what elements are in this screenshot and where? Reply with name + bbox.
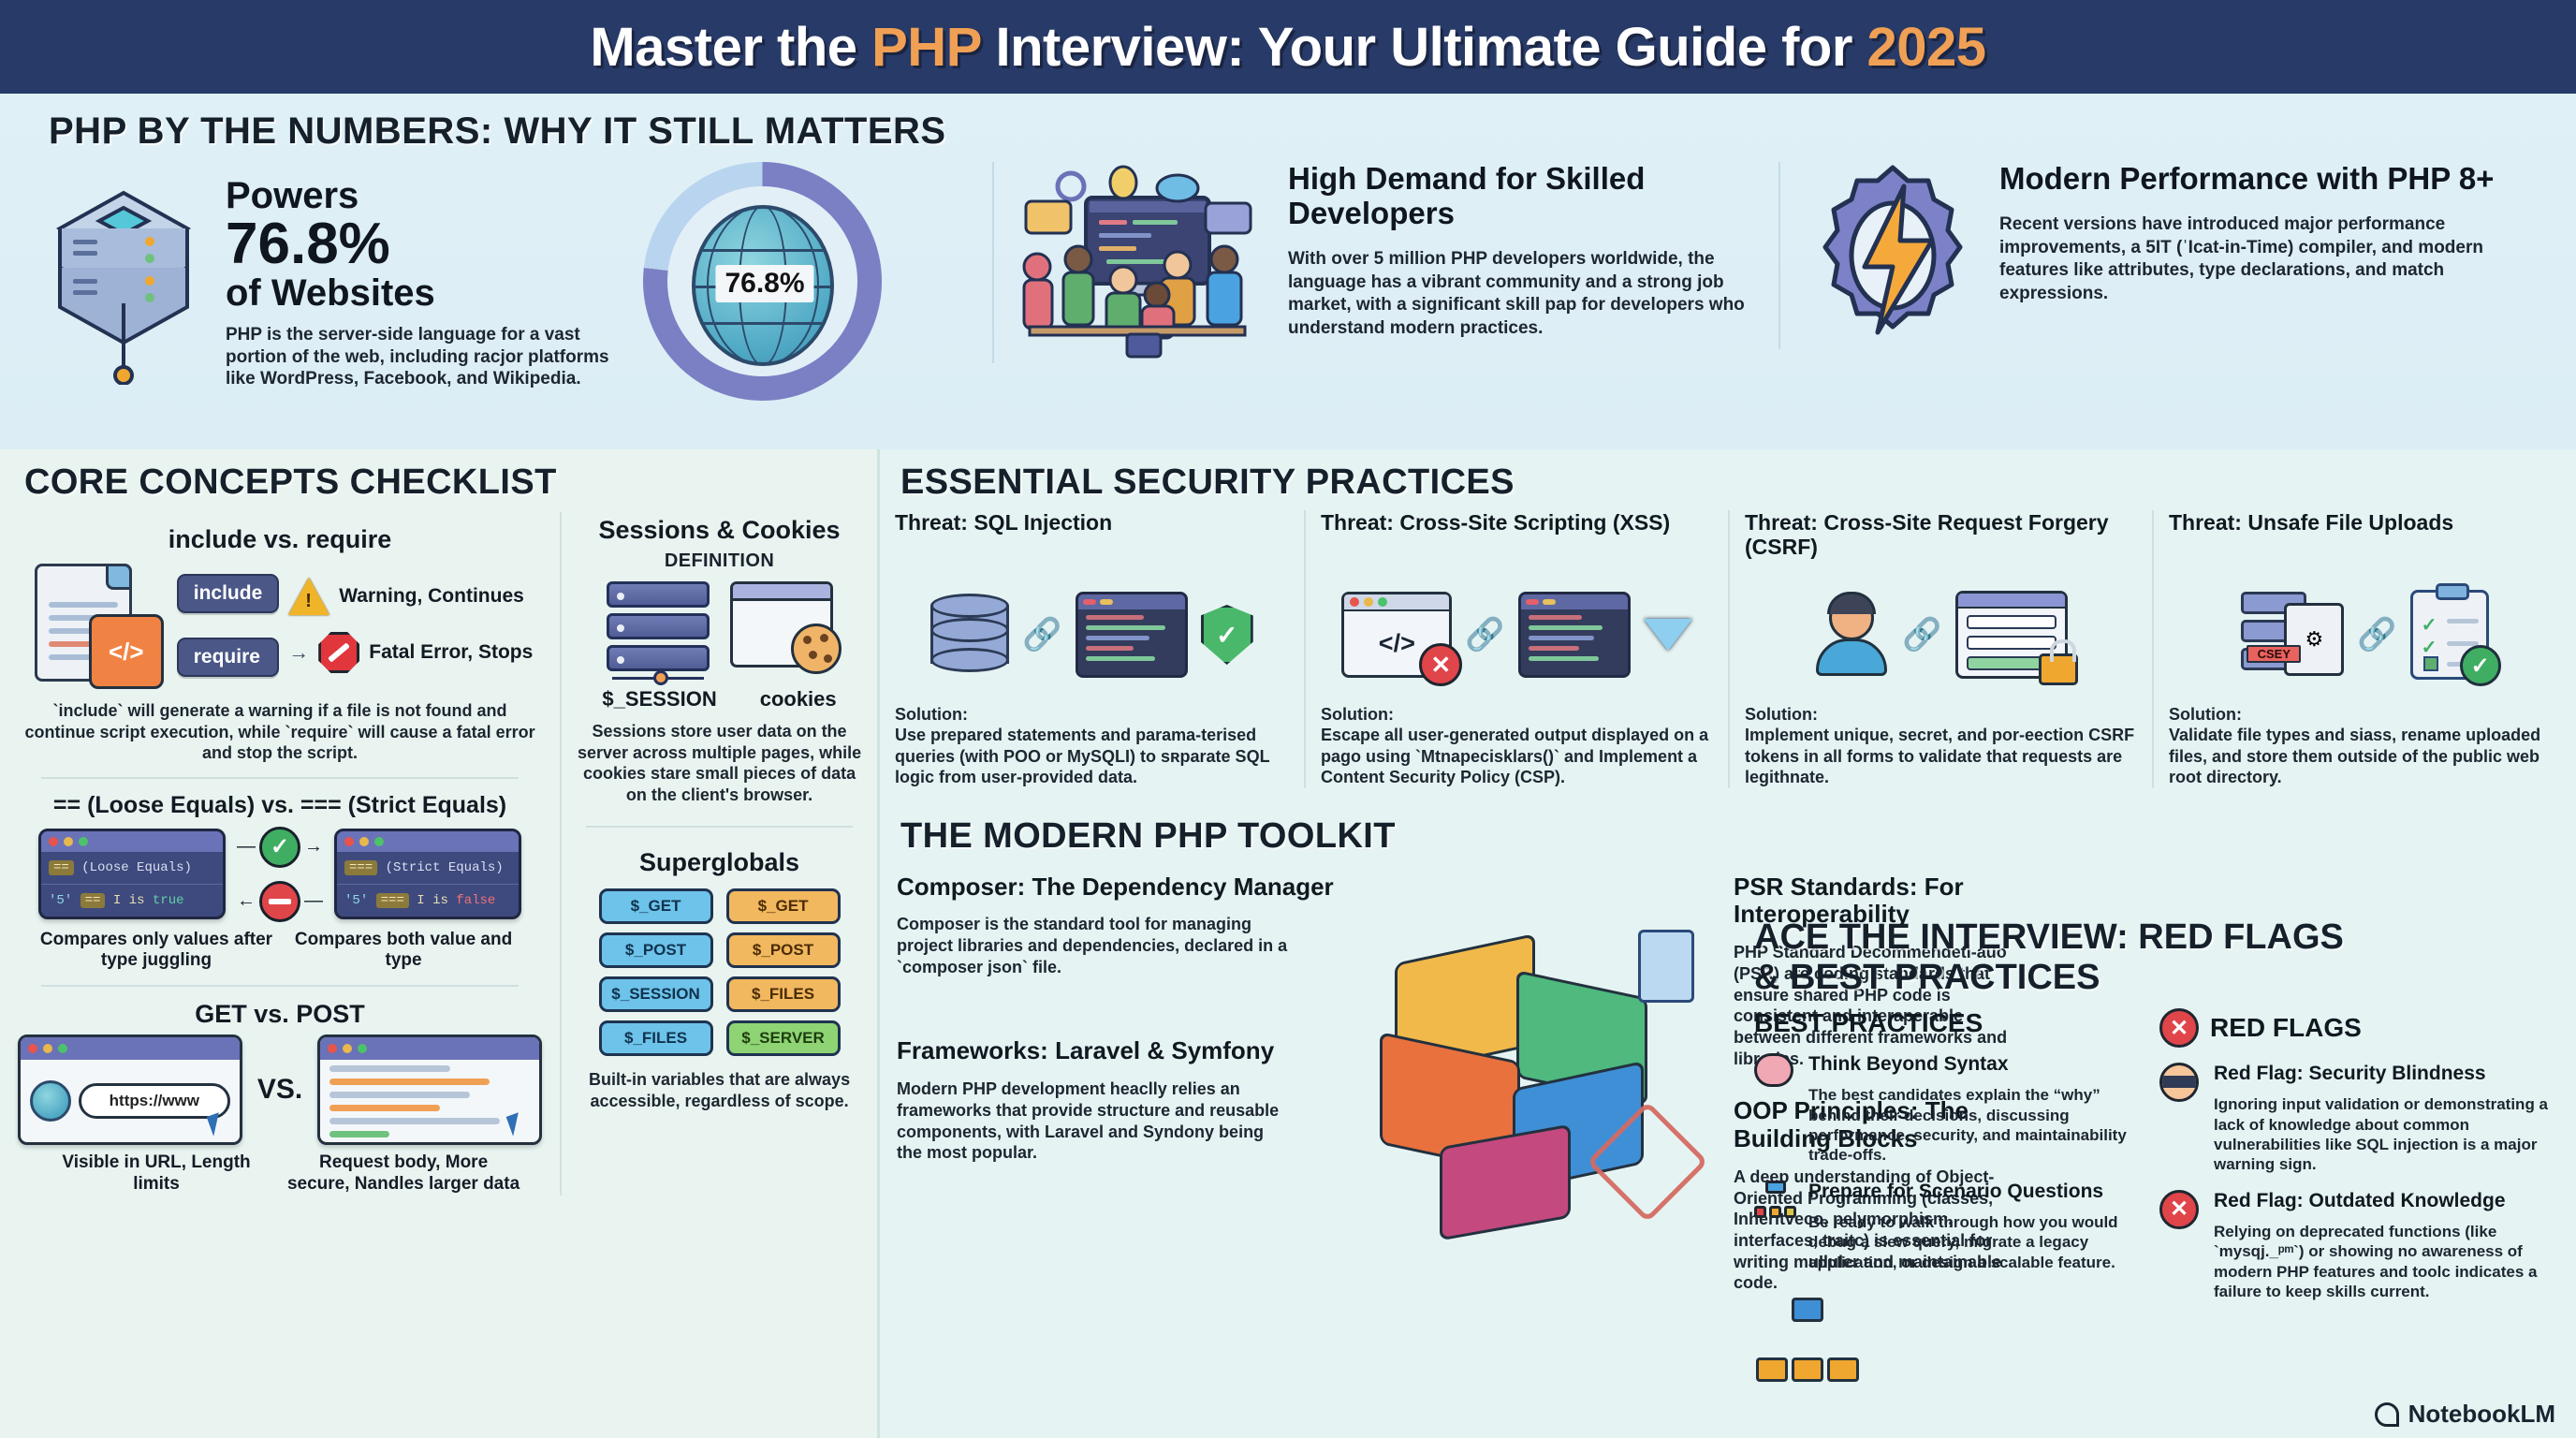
getpost-comparison: https://www VS. (17, 1034, 543, 1145)
warning-outcome: ! Warning, Continues (288, 578, 533, 615)
strict-expr-b: I is (417, 893, 448, 908)
checklist-icon: ✓ ✓ ✓ (2410, 590, 2489, 680)
high-demand-title: High Demand for Skilled Developers (1288, 162, 1760, 231)
frameworks-body: Modern PHP development heaclly relies an… (897, 1078, 1290, 1164)
threat-card-file-uploads: Threat: Unsafe File Uploads ⚙ CSEY 🔗 ✓ ✓ (2152, 510, 2576, 788)
strict-equals-title: (Strict Equals) (386, 860, 504, 875)
lock-icon (2039, 653, 2078, 685)
sessions-subheading: DEFINITION (577, 550, 862, 572)
include-require-diagram: </> include require ! Warning, Continues (17, 560, 543, 691)
ace-title-line2: & BEST PRACTICES (1754, 958, 2100, 997)
infographic-page: Master the PHP Interview: Your Ultimate … (0, 0, 2576, 1438)
security-section-title: ESSENTIAL SECURITY PRACTICES (900, 462, 2576, 503)
shield-check-icon: ✓ (1201, 605, 1253, 665)
cookie-icon (791, 624, 842, 674)
sessions-heading: Sessions & Cookies (577, 516, 862, 545)
cookie-browser-icon (730, 581, 833, 680)
red-flags-heading-row: ✕ RED FLAGS (2159, 1008, 2555, 1048)
composer-body: Composer is the standard tool for managi… (897, 914, 1290, 977)
url-field[interactable]: https://www (79, 1083, 230, 1119)
threat-solution: Implement unique, secret, and por-eectio… (1745, 725, 2137, 788)
include-tag: include (177, 574, 280, 613)
red-flag-body: Ignoring input validation or demonstrati… (2214, 1094, 2555, 1175)
cookies-label: cookies (760, 687, 837, 712)
superglobal-chip: $_SERVER (726, 1020, 841, 1056)
blindfold-icon (2159, 1063, 2199, 1102)
superglobal-chip: $_GET (726, 888, 841, 924)
superglobal-chip: $_FILES (726, 976, 841, 1012)
toolkit-left-column: Composer: The Dependency Manager Compose… (880, 873, 1722, 1388)
minus-circle-icon (259, 881, 300, 922)
server-icon (607, 581, 710, 680)
getpost-heading: GET vs. POST (17, 1000, 543, 1029)
fatal-outcome-label: Fatal Error, Stops (369, 641, 533, 664)
session-label: $_SESSION (602, 687, 716, 712)
warning-outcome-label: Warning, Continues (339, 585, 524, 608)
file-code-icon: </> (27, 560, 168, 691)
title-year: 2025 (1867, 17, 1986, 78)
title-pre: Master the (590, 17, 871, 78)
get-browser-window: https://www (18, 1034, 242, 1145)
code-window-icon (1518, 592, 1631, 678)
php-by-the-numbers-section: PHP BY THE NUMBERS: WHY IT STILL MATTERS (0, 94, 2576, 449)
page-header: Master the PHP Interview: Your Ultimate … (0, 0, 2576, 94)
page-title: Master the PHP Interview: Your Ultimate … (590, 16, 1985, 79)
team-developers-illustration (1013, 162, 1275, 363)
red-flags-column: ✕ RED FLAGS Red Flag: Security Blindness… (2159, 1008, 2555, 1302)
threat-title: Threat: Unsafe File Uploads (2169, 510, 2561, 565)
notebooklm-watermark: NotebookLM (2375, 1400, 2555, 1429)
include-require-heading: include vs. require (17, 525, 543, 554)
best-practice-item: Prepare for Scenario Questions Be ready … (1754, 1181, 2150, 1272)
superglobals-note: Built-in variables that are always acces… (577, 1069, 862, 1111)
equals-caption-left: Compares only values after type juggling (39, 930, 273, 973)
high-demand-block: High Demand for Skilled Developers With … (992, 162, 1778, 363)
sessions-note: Sessions store user data on the server a… (577, 721, 862, 805)
brain-icon (1754, 1053, 1793, 1087)
best-practice-body: The best candidates explain the “why” be… (1808, 1085, 2150, 1166)
check-circle-icon: ✓ (2460, 645, 2501, 686)
form-window-icon (1955, 591, 2068, 679)
core-right-column: Sessions & Cookies DEFINITION (560, 512, 877, 1196)
best-practice-body: Be ready to walk through how you would d… (1808, 1212, 2150, 1272)
powers-percentage: 76.8% (226, 214, 628, 273)
superglobal-chip: $_GET (599, 888, 713, 924)
red-flags-heading: RED FLAGS (2210, 1013, 2362, 1043)
title-php: PHP (871, 17, 981, 78)
link-icon: 🔗 (1022, 616, 1061, 653)
high-demand-body: With over 5 million PHP developers world… (1288, 248, 1760, 341)
database-icon (930, 594, 1009, 676)
best-practices-heading: BEST PRACTICES (1754, 1008, 2150, 1038)
red-flag-title: Red Flag: Security Blindness (2214, 1063, 2555, 1085)
puzzle-pieces-illustration (1339, 930, 1713, 1239)
loose-expr-b: I is (113, 893, 145, 908)
ace-section-title: ACE THE INTERVIEW: RED FLAGS & BEST PRAC… (1754, 917, 2555, 997)
post-caption: Request body, More secure, Nandles large… (286, 1152, 520, 1196)
superglobals-heading: Superglobals (577, 848, 862, 877)
include-require-note: `include` will generate a warning if a f… (17, 700, 543, 764)
numbers-section-title: PHP BY THE NUMBERS: WHY IT STILL MATTERS (49, 110, 2576, 153)
right-pane: ESSENTIAL SECURITY PRACTICES Threat: SQL… (880, 449, 2576, 1438)
threat-solution: Use prepared statements and parama-teris… (895, 725, 1289, 788)
toolkit-section-title: THE MODERN PHP TOOLKIT (900, 816, 2576, 857)
superglobal-chip: $_FILES (599, 1020, 713, 1056)
superglobal-chip: $_POST (726, 932, 841, 968)
globe-icon (30, 1080, 71, 1122)
hierarchy-icon (1756, 1298, 1859, 1382)
link-icon: 🔗 (2357, 616, 2396, 653)
x-circle-icon: ✕ (2159, 1008, 2199, 1048)
websites-donut-chart: 76.8% (643, 162, 886, 405)
user-avatar-icon (1814, 595, 1889, 674)
loose-equals-title: (Loose Equals) (81, 860, 192, 875)
superglobal-chip: $_POST (599, 932, 713, 968)
x-circle-icon: ✕ (1419, 643, 1462, 686)
powers-line1: Powers (226, 177, 628, 214)
threat-card-csrf: Threat: Cross-Site Request Forgery (CSRF… (1728, 510, 2152, 788)
best-practice-item: Think Beyond Syntax The best candidates … (1754, 1053, 2150, 1166)
donut-value-label: 76.8% (715, 265, 813, 302)
superglobal-chip: $_SESSION (599, 976, 713, 1012)
best-practice-title: Think Beyond Syntax (1808, 1053, 2150, 1076)
superglobals-grid: $_GET $_POST $_SESSION $_FILES $_GET $_P… (577, 888, 862, 1056)
strict-expr-a: '5' (344, 893, 368, 908)
post-browser-window (317, 1034, 542, 1145)
best-practice-title: Prepare for Scenario Questions (1808, 1181, 2150, 1203)
powers-description: PHP is the server-side language for a va… (226, 324, 628, 390)
link-icon: 🔗 (1902, 616, 1941, 653)
arrow-right-icon: → (288, 640, 309, 665)
code-brackets-icon: </> (89, 614, 164, 689)
filter-funnel-icon (1644, 619, 1692, 651)
server-file-icon: ⚙ CSEY (2241, 592, 2344, 678)
ace-the-interview-section: ACE THE INTERVIEW: RED FLAGS & BEST PRAC… (1734, 917, 2576, 1302)
red-flag-item: Red Flag: Security Blindness Ignoring in… (2159, 1063, 2555, 1175)
link-icon: 🔗 (1465, 616, 1504, 653)
vs-label: VS. (257, 1074, 302, 1106)
notebooklm-label: NotebookLM (2408, 1400, 2555, 1429)
core-concepts-section: CORE CONCEPTS CHECKLIST include vs. requ… (0, 449, 880, 1438)
require-tag: require (177, 638, 280, 677)
lower-content: CORE CONCEPTS CHECKLIST include vs. requ… (0, 449, 2576, 1438)
title-mid: Interview: Your Ultimate Guide for (981, 17, 1867, 78)
threat-card-sql-injection: Threat: SQL Injection 🔗 ✓ Solution: (880, 510, 1304, 788)
ace-title-line1: ACE THE INTERVIEW: RED FLAGS (1754, 917, 2344, 957)
threat-cards: Threat: SQL Injection 🔗 ✓ Solution: (880, 510, 2576, 788)
loose-result: true (153, 893, 184, 908)
powers-line3: of Websites (226, 273, 628, 313)
solution-label: Solution: (2169, 705, 2561, 725)
strict-equals-terminal: === (Strict Equals) '5' === I is false (334, 829, 521, 919)
modern-performance-block: Modern Performance with PHP 8+ Recent ve… (1778, 162, 2565, 349)
core-left-column: include vs. require </> (0, 512, 560, 1196)
document-icon (1638, 930, 1694, 1003)
solution-label: Solution: (1745, 705, 2137, 725)
solution-label: Solution: (1321, 705, 1713, 725)
equals-heading: == (Loose Equals) vs. === (Strict Equals… (17, 792, 543, 819)
divider (41, 985, 519, 987)
flowchart-icon (1754, 1181, 1797, 1218)
modern-performance-body: Recent versions have introduced major pe… (1999, 213, 2546, 306)
divider (41, 777, 519, 779)
loose-equals-terminal: == (Loose Equals) '5' == I is true (38, 829, 226, 919)
warning-triangle-icon: ! (288, 578, 329, 615)
threat-title: Threat: Cross-Site Request Forgery (CSRF… (1745, 510, 2137, 565)
best-practices-column: BEST PRACTICES Think Beyond Syntax The b… (1754, 1008, 2150, 1302)
server-stack-icon (37, 183, 211, 385)
code-window-icon (1076, 592, 1188, 678)
equals-comparison: == (Loose Equals) '5' == I is true — ✓ →… (17, 827, 543, 922)
get-caption: Visible in URL, Length limits (39, 1152, 273, 1196)
strict-result: false (456, 893, 495, 908)
stop-sign-icon (318, 632, 359, 673)
gear-lightning-icon (1799, 162, 1986, 349)
powers-stat-block: Powers 76.8% of Websites PHP is the serv… (0, 162, 992, 405)
divider (586, 826, 853, 828)
composer-heading: Composer: The Dependency Manager (897, 873, 1705, 902)
file-badge: CSEY (2247, 645, 2301, 663)
solution-label: Solution: (895, 705, 1289, 725)
loose-expr-a: '5' (49, 893, 72, 908)
core-section-title: CORE CONCEPTS CHECKLIST (24, 462, 877, 503)
threat-solution: Validate file types and siass, rename up… (2169, 725, 2561, 788)
red-flag-body: Relying on deprecated functions (like `m… (2214, 1222, 2555, 1302)
threat-solution: Escape all user-generated output display… (1321, 725, 1713, 788)
modern-performance-title: Modern Performance with PHP 8+ (1999, 162, 2546, 197)
check-circle-icon: ✓ (259, 827, 300, 868)
threat-title: Threat: SQL Injection (895, 510, 1289, 565)
fatal-outcome: → Fatal Error, Stops (288, 632, 533, 673)
notebooklm-logo-icon (2375, 1402, 2399, 1427)
equals-caption-right: Compares both value and type (286, 930, 520, 973)
red-flag-item: ✕ Red Flag: Outdated Knowledge Relying o… (2159, 1190, 2555, 1302)
cursor-icon (207, 1112, 227, 1136)
red-flag-title: Red Flag: Outdated Knowledge (2214, 1190, 2555, 1212)
browser-code-icon: </> ✕ (1341, 592, 1452, 678)
threat-title: Threat: Cross-Site Scripting (XSS) (1321, 510, 1713, 565)
x-circle-icon: ✕ (2159, 1190, 2199, 1229)
threat-card-xss: Threat: Cross-Site Scripting (XSS) </> ✕… (1304, 510, 1728, 788)
